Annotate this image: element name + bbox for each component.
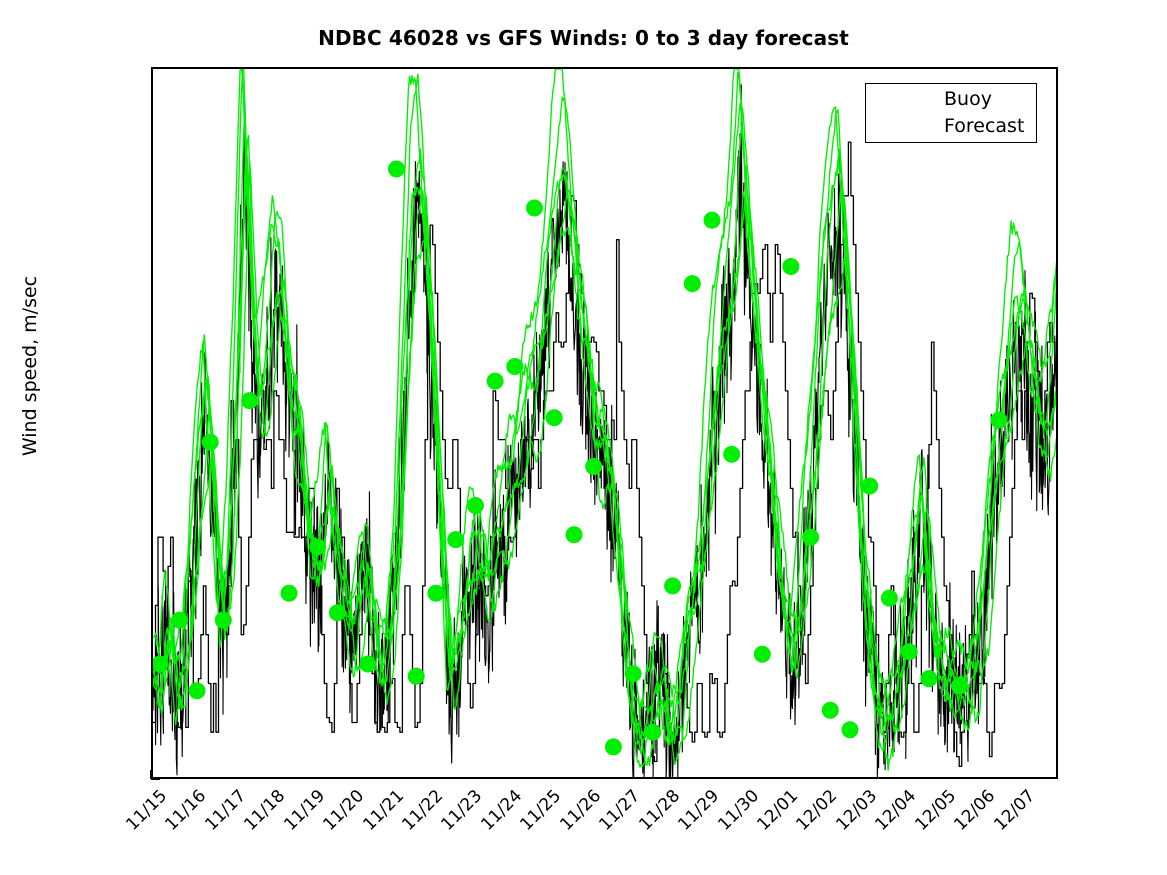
forecast-marker bbox=[546, 409, 563, 426]
forecast-marker bbox=[506, 358, 523, 375]
forecast-marker bbox=[359, 656, 376, 673]
forecast-marker bbox=[447, 531, 464, 548]
forecast-marker bbox=[664, 577, 681, 594]
forecast-marker bbox=[427, 585, 444, 602]
forecast-marker bbox=[822, 702, 839, 719]
forecast-marker bbox=[388, 161, 405, 178]
forecast-marker bbox=[754, 646, 771, 663]
legend-label-forecast: Forecast bbox=[944, 115, 1024, 137]
forecast-marker bbox=[782, 258, 799, 275]
forecast-marker bbox=[644, 724, 661, 741]
forecast-marker bbox=[408, 668, 425, 685]
plot-area bbox=[151, 67, 1058, 779]
forecast-marker bbox=[920, 670, 937, 687]
forecast-marker bbox=[566, 526, 583, 543]
chart-title: NDBC 46028 vs GFS Winds: 0 to 3 day fore… bbox=[0, 26, 1167, 50]
y-axis-label: Wind speed, m/sec bbox=[19, 106, 41, 626]
forecast-marker bbox=[526, 200, 543, 217]
legend-entry-forecast: Forecast bbox=[866, 113, 1038, 140]
forecast-marker bbox=[309, 538, 326, 555]
forecast-marker bbox=[281, 585, 298, 602]
forecast-marker bbox=[171, 612, 188, 629]
forecast-marker bbox=[802, 529, 819, 546]
forecast-marker bbox=[684, 275, 701, 292]
forecast-marker bbox=[723, 446, 740, 463]
legend-label-buoy: Buoy bbox=[944, 88, 992, 110]
forecast-marker bbox=[329, 604, 346, 621]
forecast-marker bbox=[951, 677, 968, 694]
chart-legend: Buoy Forecast bbox=[865, 83, 1037, 143]
forecast-marker bbox=[585, 458, 602, 475]
forecast-marker bbox=[241, 392, 258, 409]
chart-figure: NDBC 46028 vs GFS Winds: 0 to 3 day fore… bbox=[0, 0, 1167, 875]
forecast-marker bbox=[842, 721, 859, 738]
forecast-marker bbox=[704, 212, 721, 229]
forecast-marker bbox=[487, 373, 504, 390]
forecast-marker bbox=[861, 478, 878, 495]
forecast-marker bbox=[881, 590, 898, 607]
forecast-marker bbox=[605, 738, 622, 755]
forecast-marker bbox=[215, 612, 232, 629]
legend-entry-buoy: Buoy bbox=[866, 86, 1038, 113]
forecast-marker bbox=[625, 665, 642, 682]
forecast-marker bbox=[901, 643, 918, 660]
forecast-marker bbox=[467, 497, 484, 514]
forecast-marker bbox=[202, 434, 219, 451]
forecast-marker bbox=[990, 412, 1007, 429]
forecast-marker bbox=[189, 682, 206, 699]
plot-canvas bbox=[153, 69, 1058, 779]
